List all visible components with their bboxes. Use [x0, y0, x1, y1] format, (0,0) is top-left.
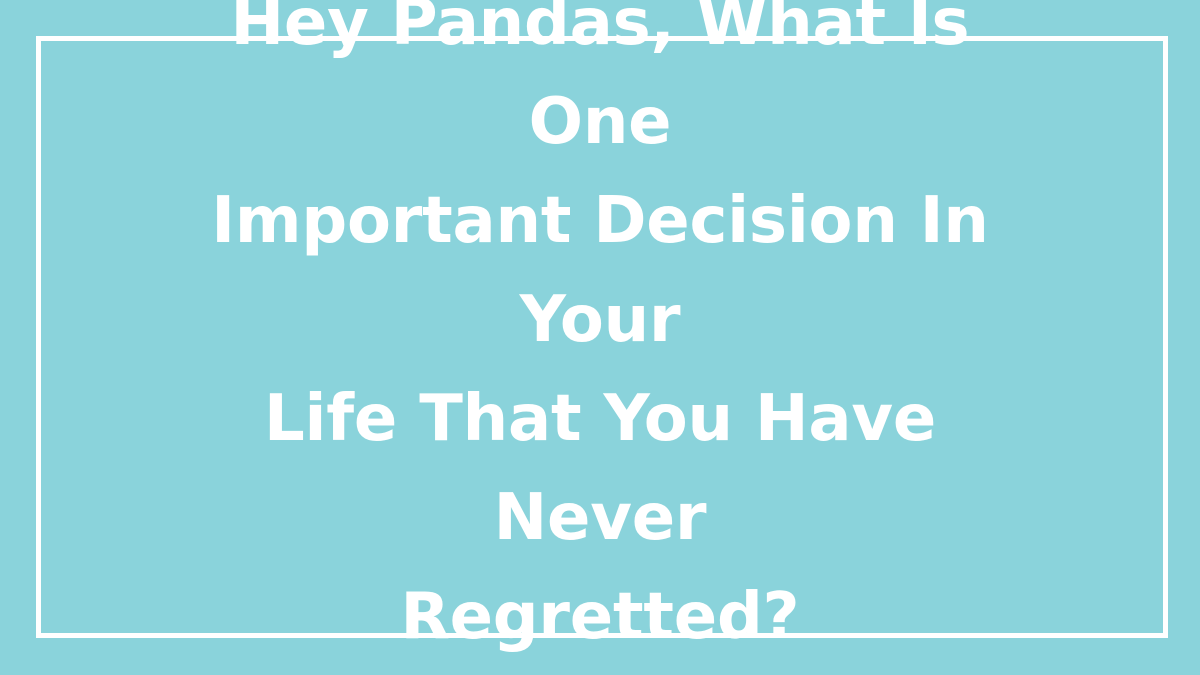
title-card: Hey Pandas, What Is One Important Decisi… — [0, 0, 1200, 675]
page-title: Hey Pandas, What Is One Important Decisi… — [150, 0, 1050, 667]
headline-container: Hey Pandas, What Is One Important Decisi… — [0, 0, 1200, 675]
